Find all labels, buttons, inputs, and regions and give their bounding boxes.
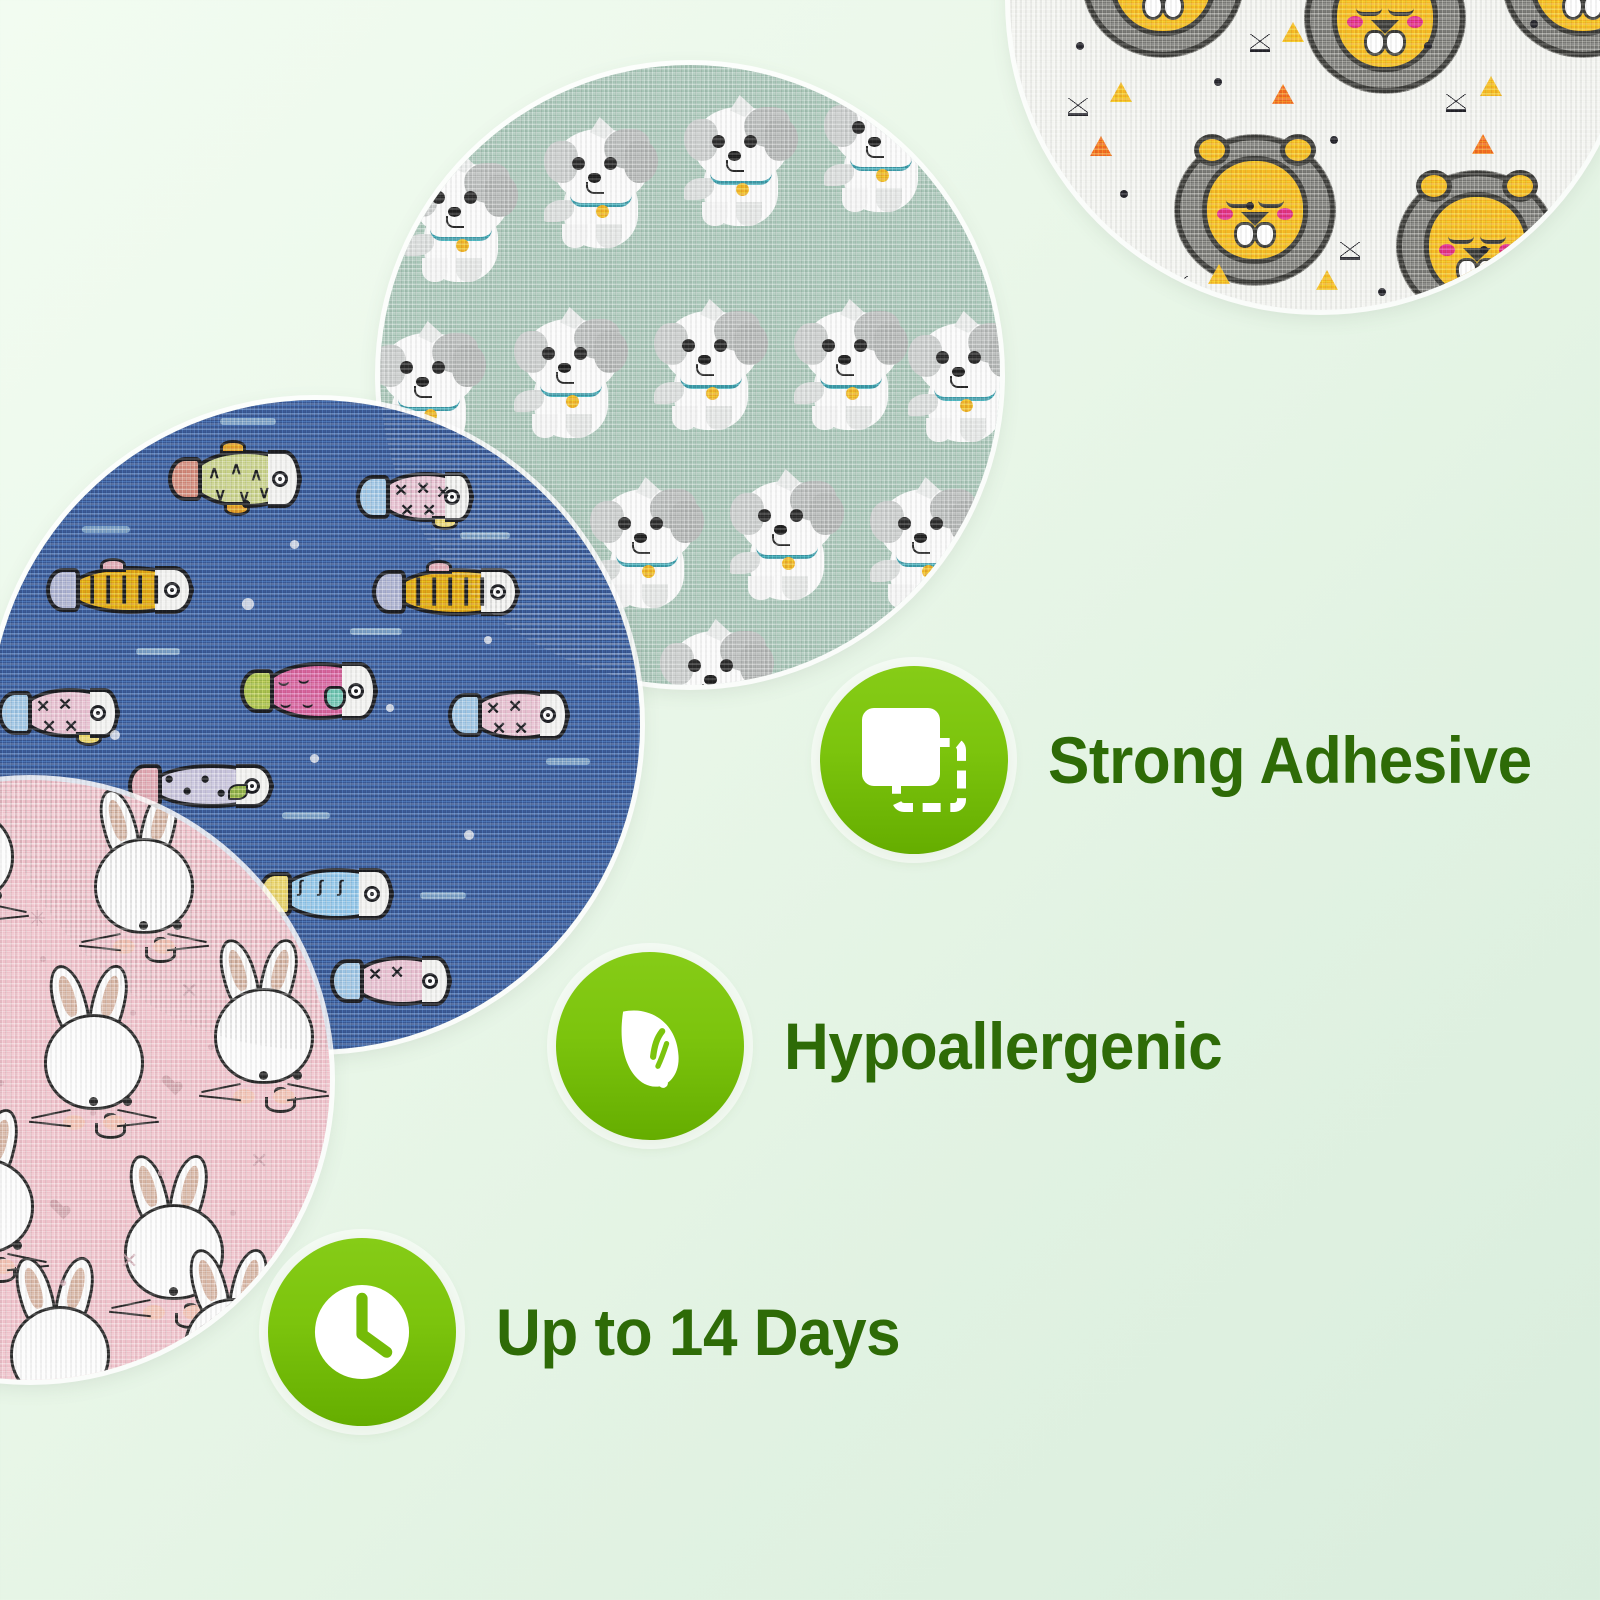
feature-badge-circle [820,666,1008,854]
puppy-motif [406,157,516,282]
lion-motif [1180,140,1330,280]
feature-label: Hypoallergenic [784,1008,1222,1084]
clock-icon [306,1276,418,1388]
fish-motif: ✕✕ [352,956,452,1006]
puppy-motif [686,101,796,226]
fish-motif: ✕✕ ✕✕ ✕ [378,472,474,522]
fish-motif: ⌣⌣ ⌣⌣ [262,662,378,720]
puppy-motif [516,313,626,438]
triangle-motif [1110,82,1132,102]
puppy-motif [796,305,906,430]
triangle-motif [1090,136,1112,156]
feature-hypoallergenic[interactable]: Hypoallergenic [556,952,1250,1140]
bunny-motif [0,780,30,910]
feature-badge-circle [268,1238,456,1426]
fish-motif: || || | [394,568,520,616]
fish-motif: ✕✕ ✕✕ [470,690,570,740]
triangle-motif [1068,98,1088,116]
lion-motif [1088,0,1238,52]
layers-icon [862,708,966,812]
leaf-icon [598,994,702,1098]
triangle-motif [1316,270,1338,290]
fish-motif: ✕✕ ✕✕ [20,688,120,738]
lion-motif [1508,0,1600,52]
lion-motif [1402,176,1552,310]
bunny-motif [200,940,330,1090]
bunny-motif [0,1110,50,1260]
puppy-motif [826,87,936,212]
feature-label: Strong Adhesive [1048,722,1532,798]
puppy-motif [656,305,766,430]
triangle-motif [1168,276,1188,294]
triangle-motif [1472,134,1494,154]
feature-strong-adhesive[interactable]: Strong Adhesive [820,666,1562,854]
puppy-motif [872,483,982,608]
triangle-motif [1208,264,1230,284]
triangle-motif [1480,76,1502,96]
feature-up-to-14-days[interactable]: Up to 14 Days [268,1238,926,1426]
feature-label: Up to 14 Days [496,1294,900,1370]
fish-motif [242,500,250,508]
swatch-lion-pattern [1010,0,1600,310]
triangle-motif [1272,84,1294,104]
triangle-motif [1340,242,1360,260]
bunny-motif [0,1258,126,1380]
puppy-motif [732,475,842,600]
triangle-motif [1282,22,1304,42]
feature-badge-circle [556,952,744,1140]
lion-motif-grid [1010,0,1600,310]
lion-motif [1310,0,1460,88]
puppy-motif [910,317,1000,442]
triangle-motif [1446,94,1466,112]
triangle-motif [1250,34,1270,52]
fish-motif: ∫∫ ∫ [280,868,394,920]
bunny-motif [80,790,210,940]
puppy-motif [546,123,656,248]
bunny-motif [30,966,160,1116]
puppy-motif [662,625,772,685]
fish-motif: || || | [68,566,194,614]
